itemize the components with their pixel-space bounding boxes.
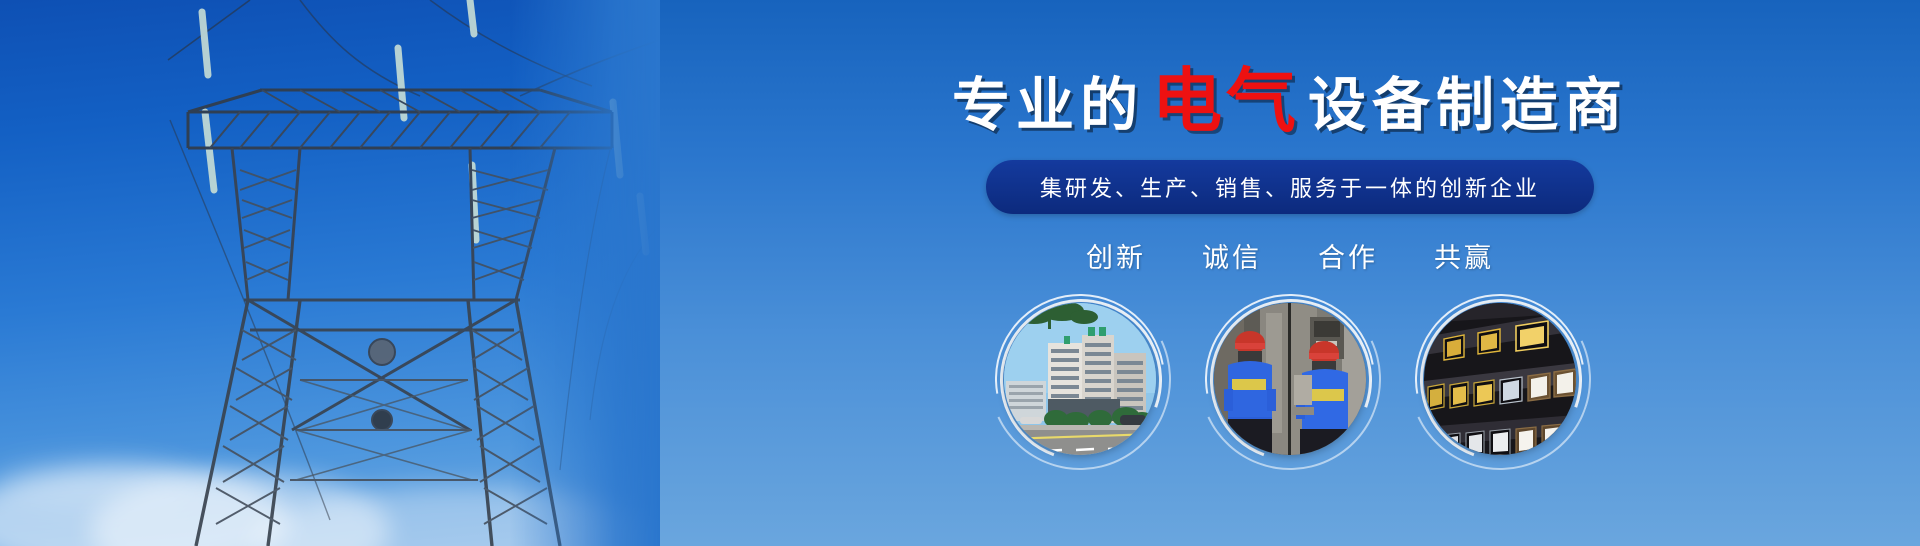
headline-part-2: 设备制造商 bbox=[1308, 77, 1628, 135]
circle-photo-certificates[interactable] bbox=[1424, 303, 1576, 455]
subtitle-pill: 集研发、生产、销售、服务于一体的创新企业 bbox=[986, 160, 1594, 214]
circle-photo-office-building[interactable] bbox=[1004, 303, 1156, 455]
promotional-banner: 专业的电气设备制造商 集研发、生产、销售、服务于一体的创新企业 创新 诚信 合作… bbox=[0, 0, 1920, 546]
circle-photo-workers[interactable] bbox=[1214, 303, 1366, 455]
headline-accent: 电气 bbox=[1152, 66, 1300, 136]
headline-part-1: 专业的 bbox=[952, 77, 1144, 135]
value-keyword-3: 合作 bbox=[1318, 236, 1378, 275]
banner-content: 专业的电气设备制造商 集研发、生产、销售、服务于一体的创新企业 创新 诚信 合作… bbox=[660, 0, 1920, 546]
office-building-photo bbox=[1004, 303, 1156, 455]
transmission-tower-icon bbox=[0, 0, 660, 546]
page-title: 专业的电气设备制造商 bbox=[952, 66, 1628, 136]
value-keyword-1: 创新 bbox=[1086, 236, 1146, 275]
value-keywords: 创新 诚信 合作 共赢 bbox=[1086, 236, 1494, 275]
background-photo bbox=[0, 0, 660, 546]
workers-installation-photo bbox=[1214, 303, 1366, 455]
value-keyword-2: 诚信 bbox=[1202, 236, 1262, 275]
photo-circle-row bbox=[1004, 303, 1576, 455]
value-keyword-4: 共赢 bbox=[1434, 236, 1494, 275]
certificates-wall-photo bbox=[1424, 303, 1576, 455]
